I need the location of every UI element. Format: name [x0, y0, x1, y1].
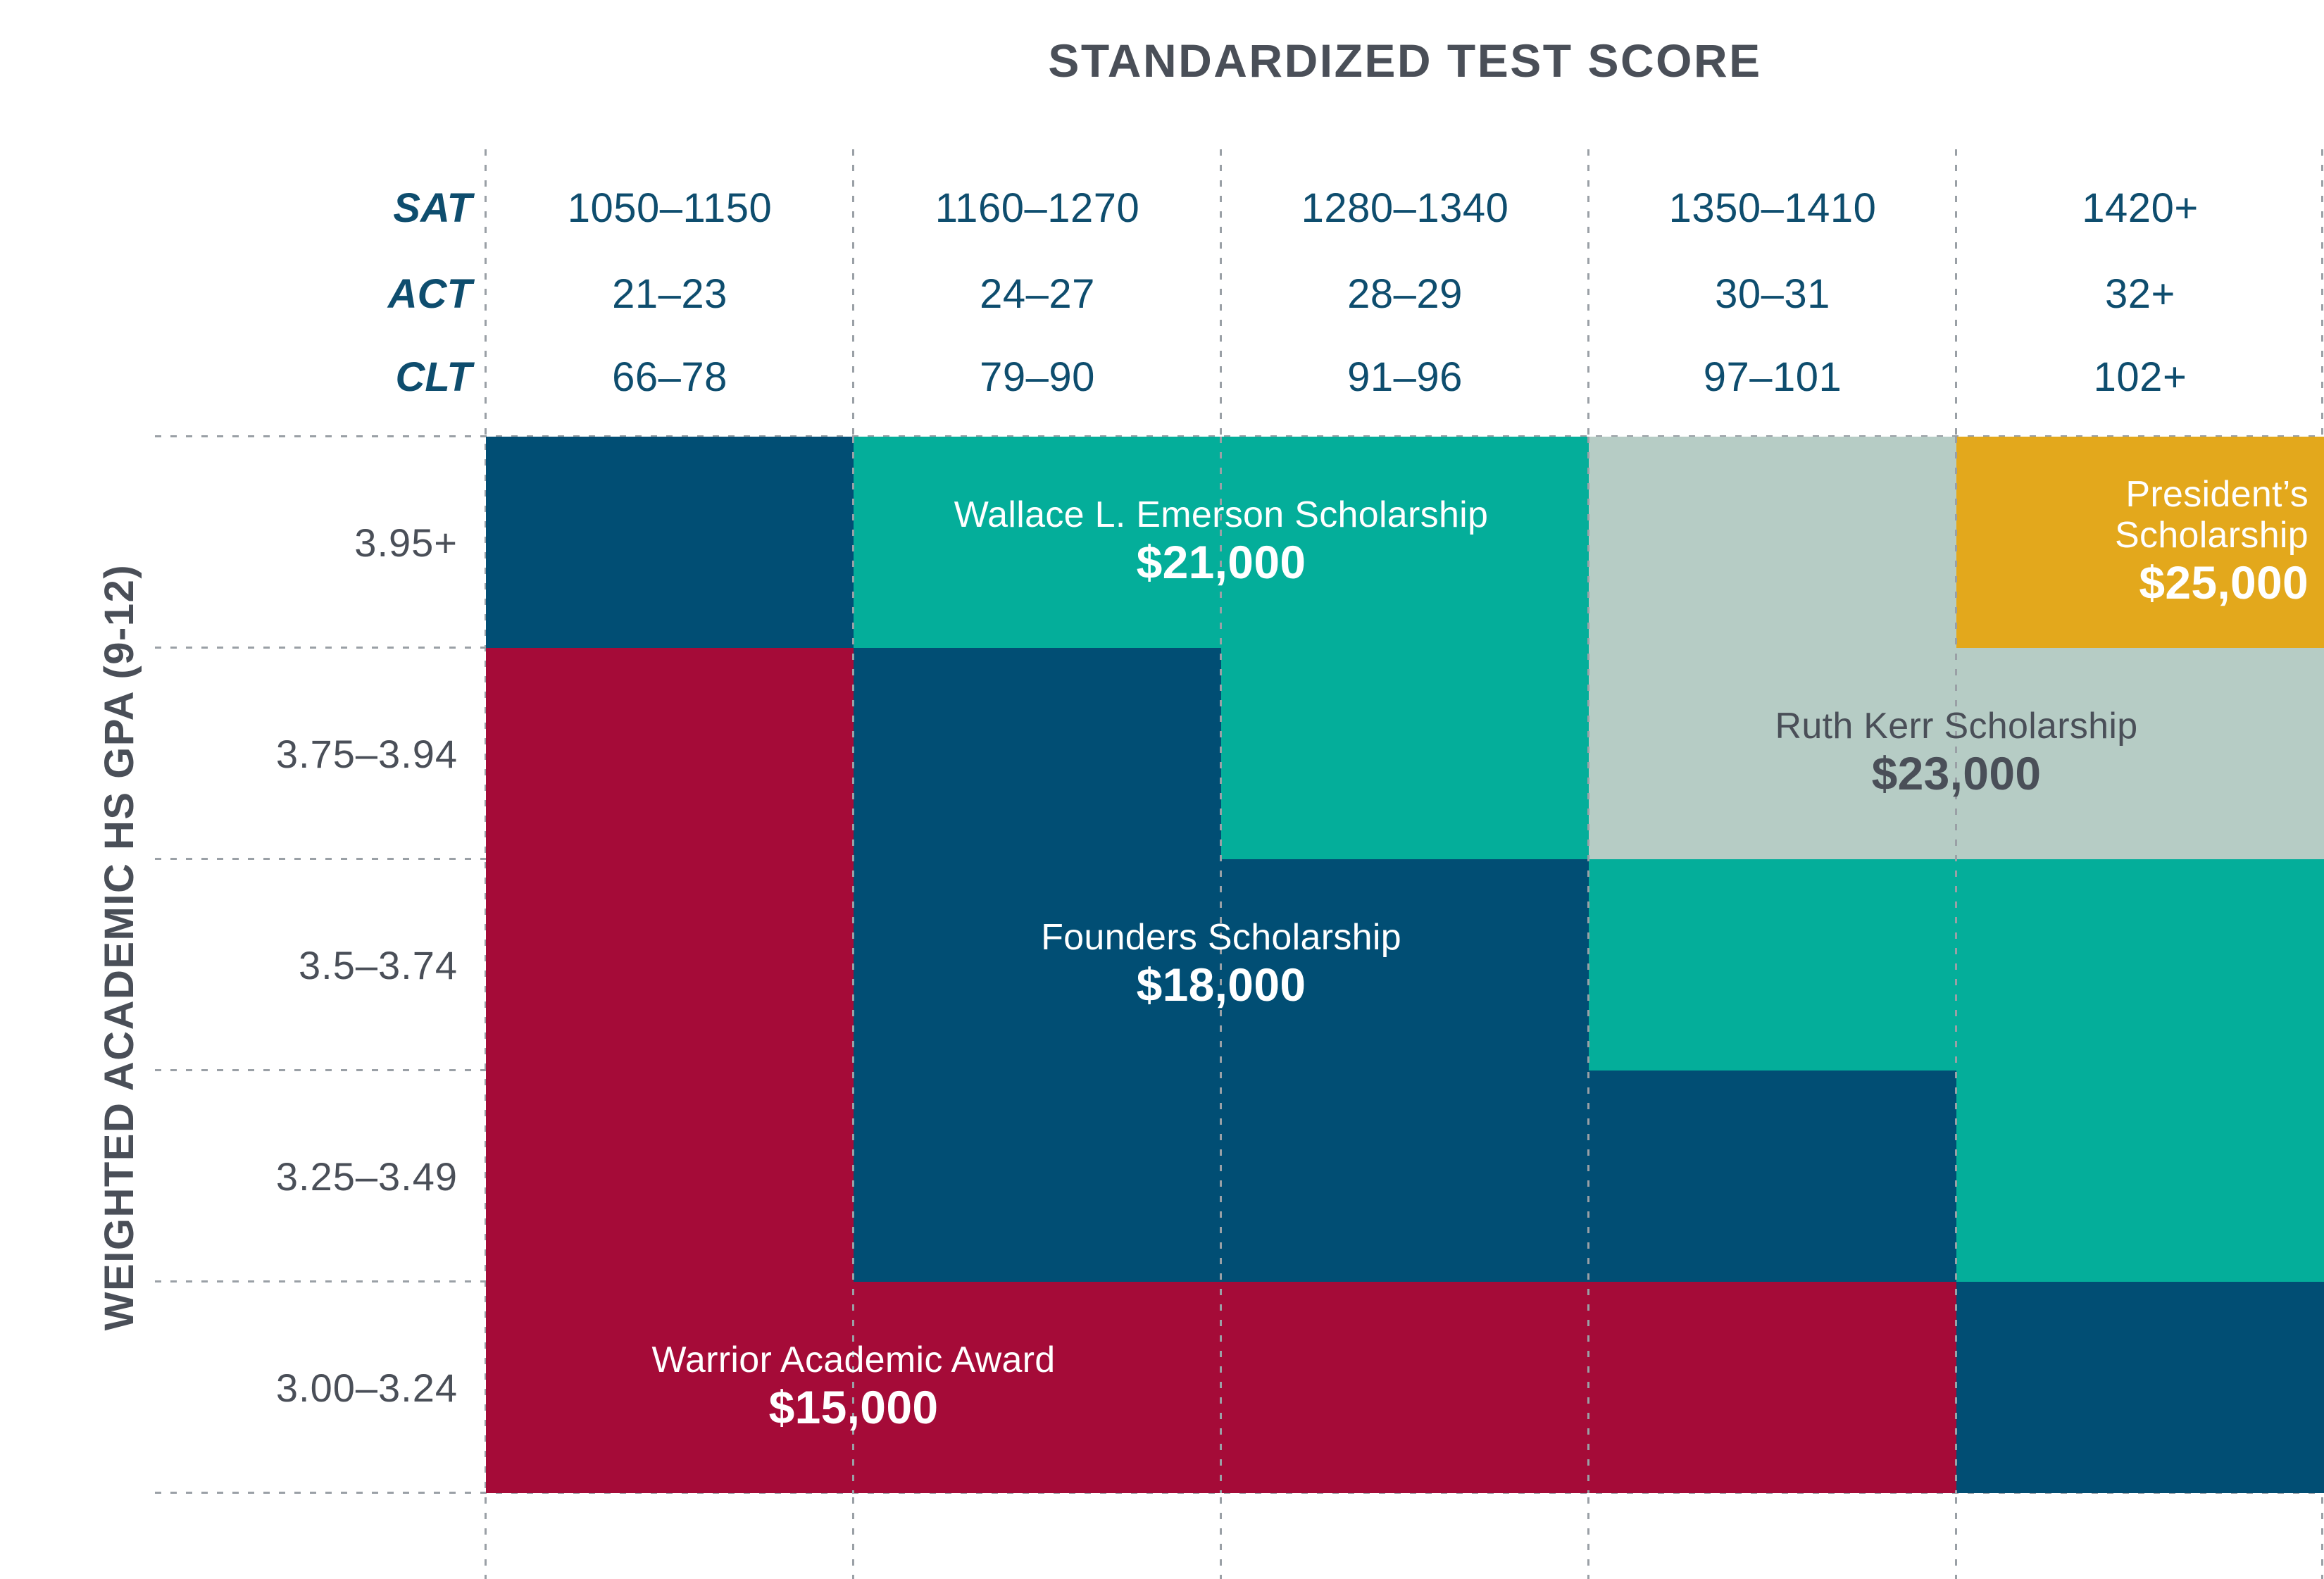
header-clt-col-3: 91–96	[1221, 338, 1589, 417]
heatmap-cell-r3c3[interactable]	[1221, 859, 1589, 1071]
heatmap-cell-r4c4[interactable]	[1589, 1071, 1956, 1282]
heatmap-cell-r3c2[interactable]	[854, 859, 1221, 1071]
heatmap-cell-r5c1[interactable]	[486, 1282, 854, 1493]
heatmap-cell-r2c1[interactable]	[486, 648, 854, 859]
heatmap-cell-r2c2[interactable]	[854, 648, 1221, 859]
header-row-clt: CLT 66–78 79–90 91–96 97–101 102+	[155, 338, 2324, 417]
plot-vgrid-1	[852, 437, 854, 1493]
header-clt-col-4: 97–101	[1589, 338, 1956, 417]
heatmap-cell-r5c5[interactable]	[1956, 1282, 2324, 1493]
header-sat-col-5: 1420+	[1956, 169, 2324, 248]
heatmap-cell-r2c5[interactable]	[1956, 648, 2324, 859]
heatmap-cell-r4c2[interactable]	[854, 1071, 1221, 1282]
heatmap-cell-r1c4[interactable]	[1589, 437, 1956, 648]
heatmap-cell-r2c3[interactable]	[1221, 648, 1589, 859]
heatmap-cell-r3c4[interactable]	[1589, 859, 1956, 1071]
heatmap-cell-r1c3[interactable]	[1221, 437, 1589, 648]
heatmap-cell-r1c2[interactable]	[854, 437, 1221, 648]
header-clt-col-5: 102+	[1956, 338, 2324, 417]
header-sat-col-2: 1160–1270	[854, 169, 1221, 248]
heatmap-grid: Wallace L. Emerson Scholarship $21,000 P…	[486, 437, 2324, 1493]
column-header-block: SAT 1050–1150 1160–1270 1280–1340 1350–1…	[155, 162, 2324, 408]
test-label-clt: CLT	[155, 338, 472, 417]
header-sat-col-3: 1280–1340	[1221, 169, 1589, 248]
page-title: STANDARDIZED TEST SCORE	[486, 34, 2324, 87]
row-label-gpa-1: 3.95+	[141, 437, 458, 648]
heatmap-cell-r4c1[interactable]	[486, 1071, 854, 1282]
heatmap-cell-r3c1[interactable]	[486, 859, 854, 1071]
heatmap-cell-r1c5[interactable]	[1956, 437, 2324, 648]
header-act-col-5: 32+	[1956, 255, 2324, 334]
header-sat-col-1: 1050–1150	[486, 169, 854, 248]
header-act-col-4: 30–31	[1589, 255, 1956, 334]
header-sat-col-4: 1350–1410	[1589, 169, 1956, 248]
heatmap-cell-r5c2[interactable]	[854, 1282, 1221, 1493]
heatmap-cell-r4c5[interactable]	[1956, 1071, 2324, 1282]
plot-vgrid-2	[1220, 437, 1222, 1493]
header-clt-col-1: 66–78	[486, 338, 854, 417]
plot-vgrid-4	[1955, 437, 1957, 1493]
test-label-act: ACT	[155, 255, 472, 334]
heatmap-cell-r5c3[interactable]	[1221, 1282, 1589, 1493]
heatmap-cell-r1c1[interactable]	[486, 437, 854, 648]
row-label-gpa-4: 3.25–3.49	[141, 1071, 458, 1282]
header-act-col-3: 28–29	[1221, 255, 1589, 334]
row-label-gpa-3: 3.5–3.74	[141, 859, 458, 1071]
test-label-sat: SAT	[155, 169, 472, 248]
header-row-sat: SAT 1050–1150 1160–1270 1280–1340 1350–1…	[155, 169, 2324, 248]
plot-vgrid-3	[1587, 437, 1589, 1493]
row-label-gpa-5: 3.00–3.24	[141, 1282, 458, 1493]
row-label-gpa-2: 3.75–3.94	[141, 648, 458, 859]
header-act-col-1: 21–23	[486, 255, 854, 334]
heatmap-cell-r3c5[interactable]	[1956, 859, 2324, 1071]
heatmap-cell-r4c3[interactable]	[1221, 1071, 1589, 1282]
heatmap-cell-r2c4[interactable]	[1589, 648, 1956, 859]
header-clt-col-2: 79–90	[854, 338, 1221, 417]
heatmap-cell-r5c4[interactable]	[1589, 1282, 1956, 1493]
header-row-act: ACT 21–23 24–27 28–29 30–31 32+	[155, 255, 2324, 334]
header-act-col-2: 24–27	[854, 255, 1221, 334]
